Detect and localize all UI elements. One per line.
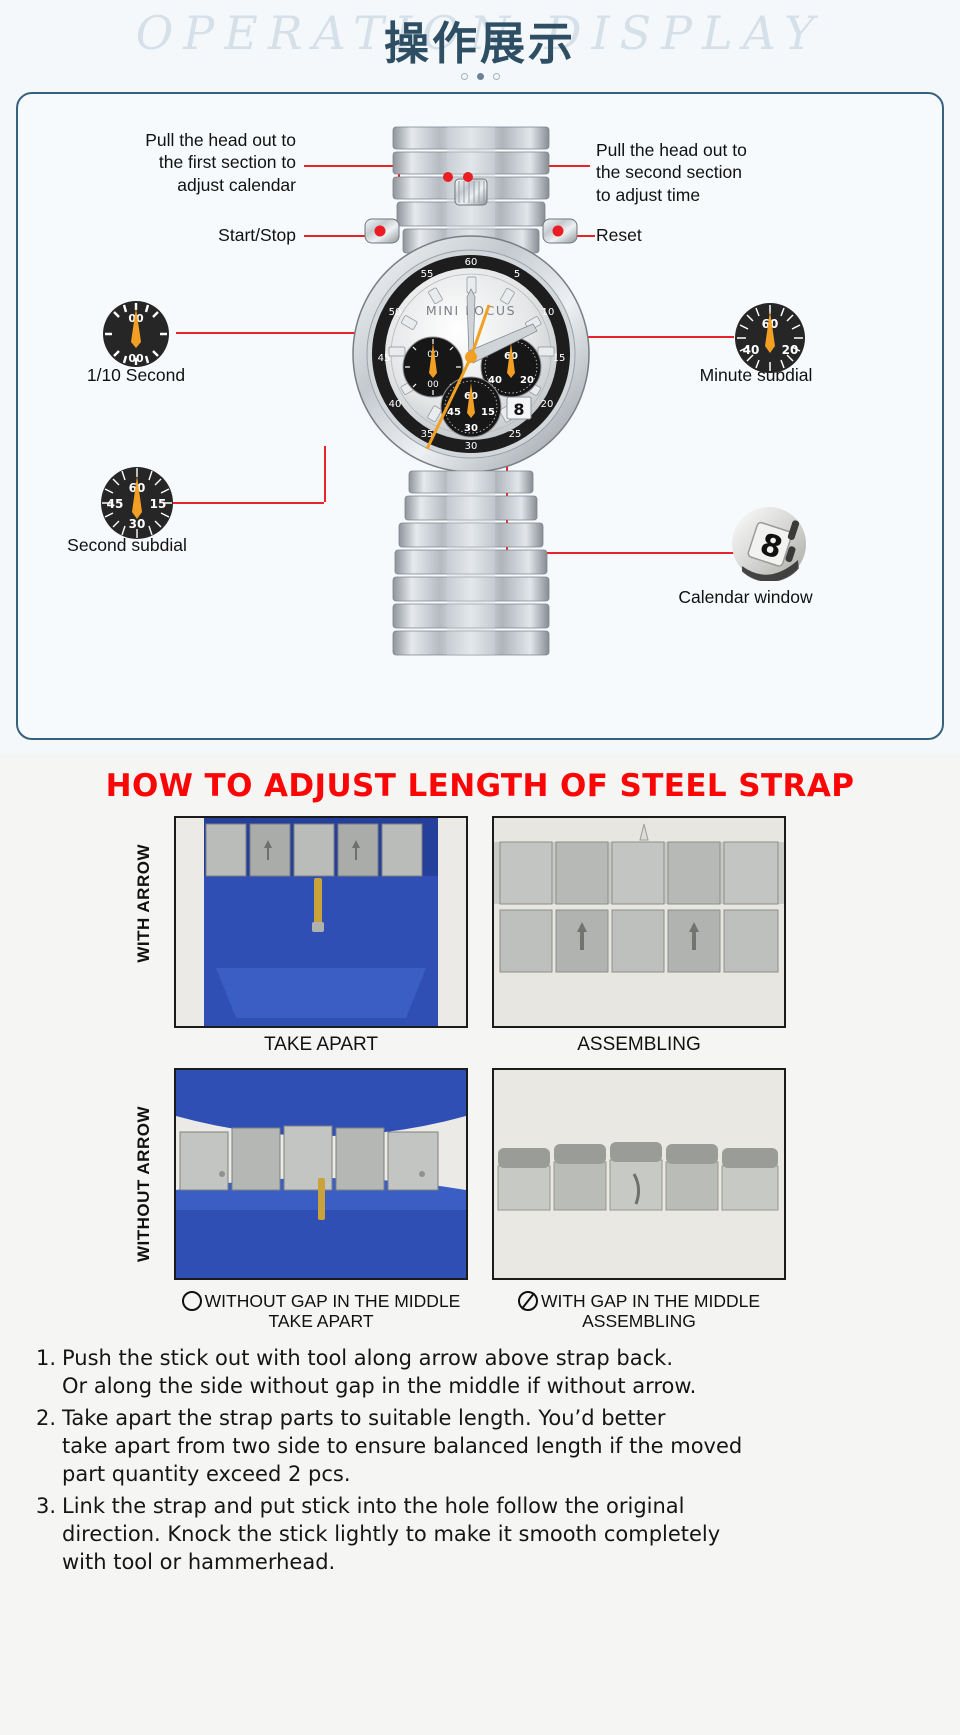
caption-with-arrow-take-apart: TAKE APART <box>174 1034 468 1056</box>
step-text: Push the stick out with tool along arrow… <box>62 1345 938 1401</box>
step-number: 2. <box>36 1405 62 1489</box>
dial-subdial-second: 60 15 30 45 <box>441 377 501 437</box>
circle-slash-icon <box>518 1291 538 1311</box>
tenth-second-subdial-icon: 00 00 <box>96 300 176 368</box>
svg-text:30: 30 <box>129 517 146 531</box>
dot-1[interactable] <box>461 73 468 80</box>
dot-2[interactable] <box>477 73 484 80</box>
svg-text:15: 15 <box>150 497 167 511</box>
photo-without-arrow-take-apart <box>174 1068 468 1280</box>
strap-adjust-section: HOW TO ADJUST LENGTH OF STEEL STRAP WITH… <box>0 754 960 1735</box>
svg-text:00: 00 <box>427 380 439 390</box>
photo-with-arrow-assembling <box>492 816 786 1028</box>
svg-text:00: 00 <box>128 352 144 365</box>
page-title: 操作展示 <box>384 7 576 72</box>
minute-subdial-icon: 60 20 40 <box>730 302 810 374</box>
callout-label-reset: Reset <box>596 224 746 246</box>
pusher-start-stop <box>365 219 399 243</box>
svg-text:20: 20 <box>520 375 534 386</box>
caption-line2: ASSEMBLING <box>582 1311 696 1331</box>
strap-photo-grid: WITH ARROW WITHOUT ARROW <box>174 816 786 1331</box>
strap-section-title: HOW TO ADJUST LENGTH OF STEEL STRAP <box>0 768 960 804</box>
watch-diagram-panel: Pull the head out to the first section t… <box>16 92 944 740</box>
svg-text:25: 25 <box>509 429 522 440</box>
svg-text:45: 45 <box>378 353 391 364</box>
svg-text:30: 30 <box>464 423 478 434</box>
caption-line1: WITH GAP IN THE MIDDLE <box>541 1291 760 1311</box>
strap-photo-row-1: TAKE APART <box>174 816 786 1056</box>
instruction-step: 3. Link the strap and put stick into the… <box>36 1493 938 1577</box>
hotspot-crown-second <box>463 172 473 182</box>
instruction-step: 1. Push the stick out with tool along ar… <box>36 1345 938 1401</box>
bracelet-lower <box>393 471 549 655</box>
svg-text:20: 20 <box>541 399 554 410</box>
photo-without-arrow-assembling <box>492 1068 786 1280</box>
svg-text:20: 20 <box>782 343 799 357</box>
dial-date-window: 8 <box>507 397 531 419</box>
page-header: OPERATION DISPLAY 操作展示 <box>0 0 960 92</box>
dot-3[interactable] <box>493 73 500 80</box>
callout-label-calendar-window: Calendar window <box>638 586 853 608</box>
svg-text:40: 40 <box>389 399 402 410</box>
watch-illustration: 60 5 10 15 20 25 30 35 40 45 50 55 <box>351 119 591 689</box>
step-text: Take apart the strap parts to suitable l… <box>62 1405 938 1489</box>
instruction-steps: 1. Push the stick out with tool along ar… <box>36 1345 938 1576</box>
svg-text:5: 5 <box>514 269 520 280</box>
callout-label-crown-second-section: Pull the head out to the second section … <box>596 139 826 206</box>
svg-text:30: 30 <box>465 441 478 452</box>
second-subdial-icon: 60 15 30 45 <box>96 466 178 540</box>
caption-without-arrow-take-apart: WITHOUT GAP IN THE MIDDLE TAKE APART <box>174 1291 468 1331</box>
row-label-with-arrow: WITH ARROW <box>134 844 154 963</box>
step-number: 1. <box>36 1345 62 1401</box>
svg-text:8: 8 <box>513 400 524 419</box>
svg-text:45: 45 <box>107 497 124 511</box>
strap-photo-row-2 <box>174 1068 786 1280</box>
svg-text:10: 10 <box>542 307 555 318</box>
callout-label-crown-first-section: Pull the head out to the first section t… <box>78 129 296 196</box>
leader-line-second-subdial-rise <box>324 446 326 502</box>
photo-cell-without-arrow-take-apart <box>174 1068 468 1280</box>
caption-without-arrow-assembling: WITH GAP IN THE MIDDLE ASSEMBLING <box>492 1291 786 1331</box>
svg-text:15: 15 <box>481 407 495 418</box>
caption-with-arrow-assembling: ASSEMBLING <box>492 1034 786 1056</box>
step-text: Link the strap and put stick into the ho… <box>62 1493 938 1577</box>
svg-text:55: 55 <box>421 269 434 280</box>
row-label-without-arrow: WITHOUT ARROW <box>134 1106 154 1262</box>
svg-text:15: 15 <box>553 353 566 364</box>
svg-text:40: 40 <box>743 343 760 357</box>
svg-text:60: 60 <box>465 257 478 268</box>
svg-text:50: 50 <box>389 307 402 318</box>
svg-text:45: 45 <box>447 407 461 418</box>
strap-bottom-captions: WITHOUT GAP IN THE MIDDLE TAKE APART WIT… <box>174 1285 786 1331</box>
circle-icon <box>182 1291 202 1311</box>
calendar-window-icon: 8 <box>730 506 808 582</box>
watch-diagram: Pull the head out to the first section t… <box>18 94 942 738</box>
photo-cell-without-arrow-assembling <box>492 1068 786 1280</box>
instruction-step: 2. Take apart the strap parts to suitabl… <box>36 1405 938 1489</box>
pusher-reset <box>543 219 577 243</box>
callout-label-start-stop: Start/Stop <box>128 224 296 246</box>
photo-cell-with-arrow-assembling: ASSEMBLING <box>492 816 786 1056</box>
caption-line2: TAKE APART <box>268 1311 373 1331</box>
carousel-dots <box>0 73 960 80</box>
caption-line1: WITHOUT GAP IN THE MIDDLE <box>205 1291 461 1311</box>
photo-cell-with-arrow-take-apart: TAKE APART <box>174 816 468 1056</box>
step-number: 3. <box>36 1493 62 1577</box>
hotspot-crown-first <box>443 172 453 182</box>
photo-with-arrow-take-apart <box>174 816 468 1028</box>
